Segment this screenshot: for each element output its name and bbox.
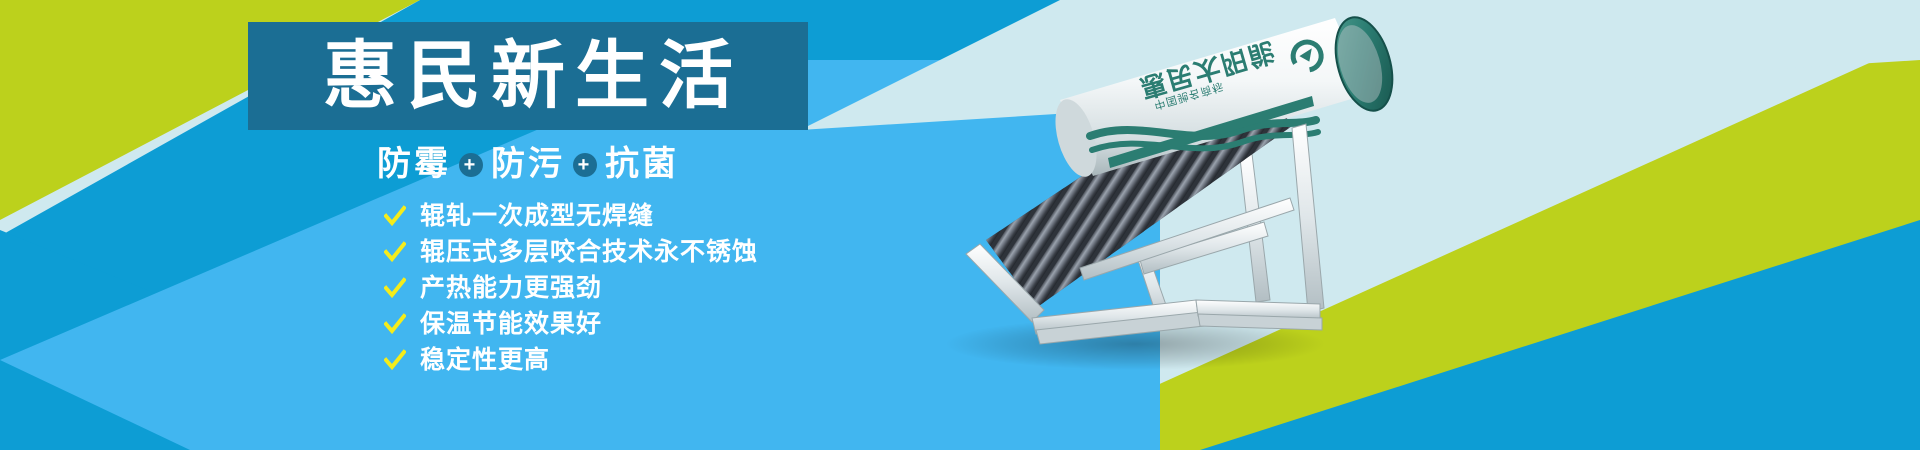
feature-label: 稳定性更高 (420, 348, 550, 373)
check-icon (384, 313, 406, 335)
feature-label: 产热能力更强劲 (420, 276, 602, 301)
check-icon (384, 205, 406, 227)
banner-subtitle: 防霉 + 防污 + 抗菌 (248, 146, 808, 183)
check-icon (384, 241, 406, 263)
feature-list: 辊轧一次成型无焊缝 辊压式多层咬合技术永不锈蚀 产热能力更强劲 保温节能效果好 (248, 199, 848, 377)
feature-label: 辊轧一次成型无焊缝 (420, 204, 654, 229)
promo-banner: 惠民新生活 防霉 + 防污 + 抗菌 辊轧一次成型无焊缝 辊压式多层咬合技术永不… (0, 0, 1920, 450)
list-item: 辊轧一次成型无焊缝 (384, 199, 848, 233)
list-item: 稳定性更高 (384, 343, 848, 377)
subtitle-part-1: 防霉 (377, 146, 451, 183)
subtitle-part-3: 抗菌 (605, 146, 679, 183)
title-box: 惠民新生活 (248, 22, 808, 130)
product-image-solar-water-heater: 惠民太阳能 中国驰名商标 (940, 8, 1500, 380)
feature-label: 辊压式多层咬合技术永不锈蚀 (420, 240, 758, 265)
banner-title: 惠民新生活 (313, 39, 743, 113)
list-item: 产热能力更强劲 (384, 271, 848, 305)
check-icon (384, 349, 406, 371)
plus-icon: + (459, 153, 483, 177)
list-item: 保温节能效果好 (384, 307, 848, 341)
list-item: 辊压式多层咬合技术永不锈蚀 (384, 235, 848, 269)
plus-icon: + (573, 153, 597, 177)
feature-label: 保温节能效果好 (420, 312, 602, 337)
subtitle-part-2: 防污 (491, 146, 565, 183)
banner-content: 惠民新生活 防霉 + 防污 + 抗菌 辊轧一次成型无焊缝 辊压式多层咬合技术永不… (248, 22, 848, 379)
check-icon (384, 277, 406, 299)
